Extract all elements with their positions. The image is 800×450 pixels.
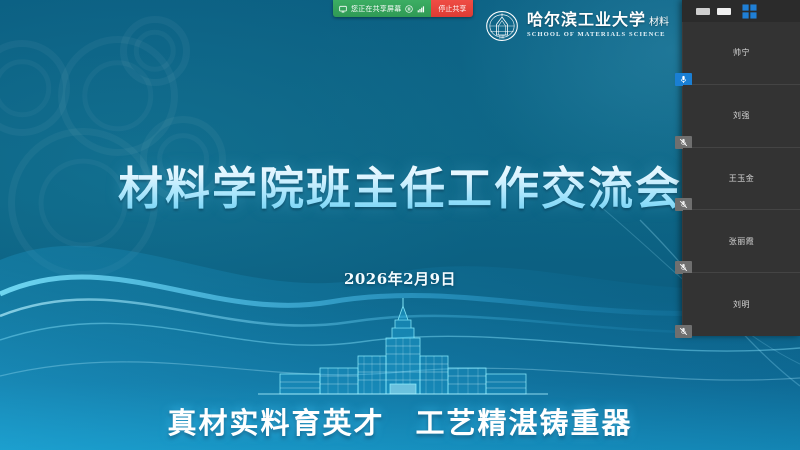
participant-name: 帅宁 bbox=[733, 47, 750, 58]
stop-share-button[interactable]: 停止共享 bbox=[431, 0, 473, 17]
school-name-en: SCHOOL OF MATERIALS SCIENCE bbox=[527, 32, 669, 39]
slide-slogan: 真材实料育英才 工艺精湛铸重器 bbox=[0, 400, 800, 442]
sharing-status-group[interactable]: 您正在共享屏幕 bbox=[333, 0, 431, 17]
school-name-cn: 材料 bbox=[649, 17, 669, 28]
shared-presentation-slide: HIT 哈尔滨工业大学材料 SCHOOL OF MATERIALS SCIENC… bbox=[0, 0, 800, 450]
participant-name: 王玉金 bbox=[729, 173, 755, 184]
restore-icon[interactable] bbox=[717, 8, 731, 15]
grid-view-icon[interactable] bbox=[742, 4, 757, 19]
hit-crest-icon: HIT bbox=[484, 8, 520, 44]
meeting-screen-share-window: HIT 哈尔滨工业大学材料 SCHOOL OF MATERIALS SCIENC… bbox=[0, 0, 800, 450]
gear-watermark-icon bbox=[120, 16, 190, 86]
participant-tile-list: 帅宁 刘强 王玉金 张丽霞 bbox=[682, 22, 800, 336]
screen-share-toolbar: 您正在共享屏幕 停止共享 bbox=[333, 0, 473, 17]
participant-tile[interactable]: 王玉金 bbox=[683, 148, 800, 211]
participant-name: 刘强 bbox=[733, 110, 750, 121]
university-logo-lockup: HIT 哈尔滨工业大学材料 SCHOOL OF MATERIALS SCIENC… bbox=[484, 8, 669, 44]
university-name-cn: 哈尔滨工业大学 bbox=[527, 12, 646, 29]
mic-off-icon[interactable] bbox=[675, 325, 692, 338]
participant-video-panel: 帅宁 刘强 王玉金 张丽霞 bbox=[682, 0, 800, 336]
signal-bars-icon[interactable] bbox=[417, 5, 425, 13]
svg-text:HIT: HIT bbox=[499, 36, 506, 40]
sharing-status-label: 您正在共享屏幕 bbox=[351, 4, 401, 14]
screen-share-icon bbox=[339, 5, 347, 13]
participant-name: 刘明 bbox=[733, 299, 750, 310]
minimize-icon[interactable] bbox=[696, 8, 710, 15]
stop-share-label: 停止共享 bbox=[438, 4, 466, 14]
participant-tile[interactable]: 帅宁 bbox=[683, 22, 800, 85]
participant-tile[interactable]: 张丽霞 bbox=[683, 210, 800, 273]
participant-tile[interactable]: 刘明 bbox=[683, 273, 800, 336]
participant-tile[interactable]: 刘强 bbox=[683, 85, 800, 148]
pause-icon[interactable] bbox=[405, 5, 413, 13]
panel-titlebar bbox=[682, 0, 800, 22]
hit-main-building-illustration bbox=[258, 298, 548, 408]
participant-name: 张丽霞 bbox=[729, 236, 755, 247]
